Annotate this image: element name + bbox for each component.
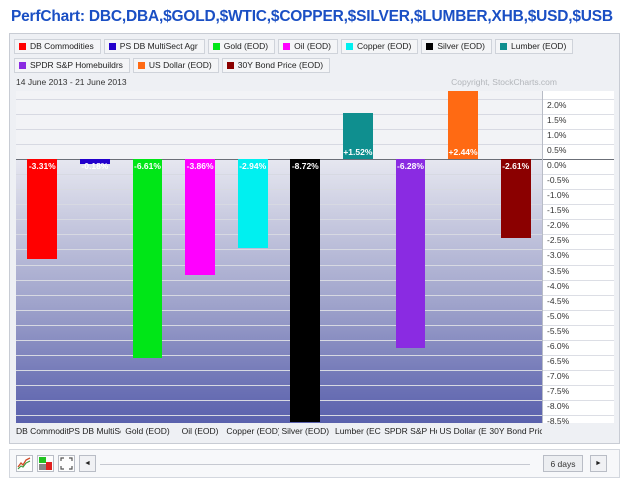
legend-color-swatch xyxy=(19,62,26,69)
y-axis-label: -5.5% xyxy=(547,327,569,336)
y-axis-label: -3.0% xyxy=(547,251,569,260)
legend-item-2[interactable]: Gold (EOD) xyxy=(208,39,275,54)
timeline-track[interactable] xyxy=(100,464,530,465)
legend-item-3[interactable]: Oil (EOD) xyxy=(278,39,338,54)
y-axis-label: -8.0% xyxy=(547,402,569,411)
line-chart-icon[interactable] xyxy=(16,455,33,472)
legend-color-swatch xyxy=(109,43,116,50)
y-axis-label: -6.0% xyxy=(547,342,569,351)
legend-item-label: Silver (EOD) xyxy=(437,42,485,51)
legend-item-4[interactable]: Copper (EOD) xyxy=(341,39,418,54)
y-axis-label: -2.5% xyxy=(547,236,569,245)
legend-item-label: Copper (EOD) xyxy=(357,42,411,51)
y-axis-label: -4.0% xyxy=(547,282,569,291)
x-axis-label-7: SPDR S&P Homebu xyxy=(384,426,437,437)
left-arrow-icon: ◄ xyxy=(84,460,91,467)
bar-0[interactable] xyxy=(27,159,57,259)
x-axis-label-1: PS DB MultiSect Ag xyxy=(69,426,122,437)
legend-color-swatch xyxy=(500,43,507,50)
bar-7[interactable] xyxy=(396,159,426,349)
chart-panel: DB CommoditiesPS DB MultiSect AgrGold (E… xyxy=(9,33,620,444)
y-axis-label: -6.5% xyxy=(547,357,569,366)
legend-color-swatch xyxy=(426,43,433,50)
bar-value-label-2: -6.61% xyxy=(133,161,163,171)
chart-subheader: 14 June 2013 - 21 June 2013 Copyright, S… xyxy=(10,77,619,91)
legend-item-0[interactable]: DB Commodities xyxy=(14,39,101,54)
bar-5[interactable] xyxy=(290,159,320,422)
scroll-left-button[interactable]: ◄ xyxy=(79,455,96,472)
period-selector[interactable]: 6 days xyxy=(543,455,583,472)
date-range-label: 14 June 2013 - 21 June 2013 xyxy=(16,77,127,87)
legend-item-6[interactable]: Lumber (EOD) xyxy=(495,39,573,54)
y-axis-label: -4.5% xyxy=(547,297,569,306)
plot-wrapper: -3.31%-0.18%-6.61%-3.86%-2.94%-8.72%+1.5… xyxy=(16,91,613,439)
legend-row: DB CommoditiesPS DB MultiSect AgrGold (E… xyxy=(14,38,614,55)
y-axis-label: 2.0% xyxy=(547,101,566,110)
legend-row: SPDR S&P HomebuildrsUS Dollar (EOD)30Y B… xyxy=(14,57,614,74)
legend-item-label: US Dollar (EOD) xyxy=(149,61,212,70)
x-axis-label-9: 30Y Bond Price (EOD) xyxy=(489,426,542,437)
y-axis-label: -8.5% xyxy=(547,417,569,426)
y-axis-label: -5.0% xyxy=(547,312,569,321)
bar-value-label-1: -0.18% xyxy=(80,161,110,171)
bar-value-label-6: +1.52% xyxy=(343,147,373,157)
y-axis-label: -1.5% xyxy=(547,206,569,215)
x-axis-label-0: DB Commoditi xyxy=(16,426,69,437)
scroll-right-button[interactable]: ► xyxy=(590,455,607,472)
y-axis-label: -7.5% xyxy=(547,387,569,396)
x-axis-label-2: Gold (EOD) xyxy=(121,426,174,437)
legend-item-label: Oil (EOD) xyxy=(294,42,331,51)
legend-item-label: 30Y Bond Price (EOD) xyxy=(238,61,323,70)
y-axis-label: -3.5% xyxy=(547,267,569,276)
legend-color-swatch xyxy=(227,62,234,69)
x-axis-label-3: Oil (EOD) xyxy=(174,426,227,437)
legend-color-swatch xyxy=(213,43,220,50)
bar-value-label-4: -2.94% xyxy=(238,161,268,171)
x-axis-label-6: Lumber (EC xyxy=(332,426,385,437)
chart-legend: DB CommoditiesPS DB MultiSect AgrGold (E… xyxy=(14,38,614,76)
bar-value-label-9: -2.61% xyxy=(501,161,531,171)
y-axis-label: 0.5% xyxy=(547,146,566,155)
bar-2[interactable] xyxy=(133,159,163,359)
bar-layer: -3.31%-0.18%-6.61%-3.86%-2.94%-8.72%+1.5… xyxy=(16,91,542,423)
legend-item-label: PS DB MultiSect Agr xyxy=(120,42,198,51)
y-axis-label: -0.5% xyxy=(547,176,569,185)
x-axis-label-4: Copper (EOD) xyxy=(226,426,279,437)
page-title: PerfChart: DBC,DBA,$GOLD,$WTIC,$COPPER,$… xyxy=(11,8,613,26)
bar-value-label-7: -6.28% xyxy=(396,161,426,171)
legend-item-1[interactable]: PS DB MultiSect Agr xyxy=(104,39,205,54)
y-axis: 2.0%1.5%1.0%0.5%0.0%-0.5%-1.0%-1.5%-2.0%… xyxy=(542,91,614,423)
y-axis-label: 1.5% xyxy=(547,116,566,125)
legend-item-label: DB Commodities xyxy=(30,42,94,51)
x-axis: DB CommoditiPS DB MultiSect AgGold (EOD)… xyxy=(16,425,542,439)
bar-3[interactable] xyxy=(185,159,215,276)
legend-item-0[interactable]: SPDR S&P Homebuildrs xyxy=(14,58,130,73)
y-axis-label: 0.0% xyxy=(547,161,566,170)
legend-color-swatch xyxy=(283,43,290,50)
bar-4[interactable] xyxy=(238,159,268,248)
legend-item-1[interactable]: US Dollar (EOD) xyxy=(133,58,219,73)
color-chart-icon[interactable] xyxy=(37,455,54,472)
y-axis-label: 1.0% xyxy=(547,131,566,140)
y-axis-label: -1.0% xyxy=(547,191,569,200)
bar-value-label-8: +2.44% xyxy=(448,147,478,157)
expand-icon[interactable] xyxy=(58,455,75,472)
legend-item-5[interactable]: Silver (EOD) xyxy=(421,39,492,54)
legend-item-label: SPDR S&P Homebuildrs xyxy=(30,61,123,70)
copyright-label: Copyright, StockCharts.com xyxy=(451,77,557,87)
perfchart-page: PerfChart: DBC,DBA,$GOLD,$WTIC,$COPPER,$… xyxy=(0,0,640,484)
y-axis-label: -2.0% xyxy=(547,221,569,230)
bar-value-label-5: -8.72% xyxy=(290,161,320,171)
plot-area[interactable]: -3.31%-0.18%-6.61%-3.86%-2.94%-8.72%+1.5… xyxy=(16,91,542,423)
legend-color-swatch xyxy=(138,62,145,69)
y-axis-label: -7.0% xyxy=(547,372,569,381)
bar-value-label-0: -3.31% xyxy=(27,161,57,171)
chart-toolbar: ◄ 6 days ► xyxy=(9,449,620,478)
legend-item-2[interactable]: 30Y Bond Price (EOD) xyxy=(222,58,330,73)
legend-item-label: Gold (EOD) xyxy=(224,42,268,51)
bar-value-label-3: -3.86% xyxy=(185,161,215,171)
legend-color-swatch xyxy=(19,43,26,50)
legend-color-swatch xyxy=(346,43,353,50)
x-axis-label-8: US Dollar (E xyxy=(437,426,490,437)
right-arrow-icon: ► xyxy=(595,460,602,467)
x-axis-label-5: Silver (EOD) xyxy=(279,426,332,437)
legend-item-label: Lumber (EOD) xyxy=(511,42,566,51)
